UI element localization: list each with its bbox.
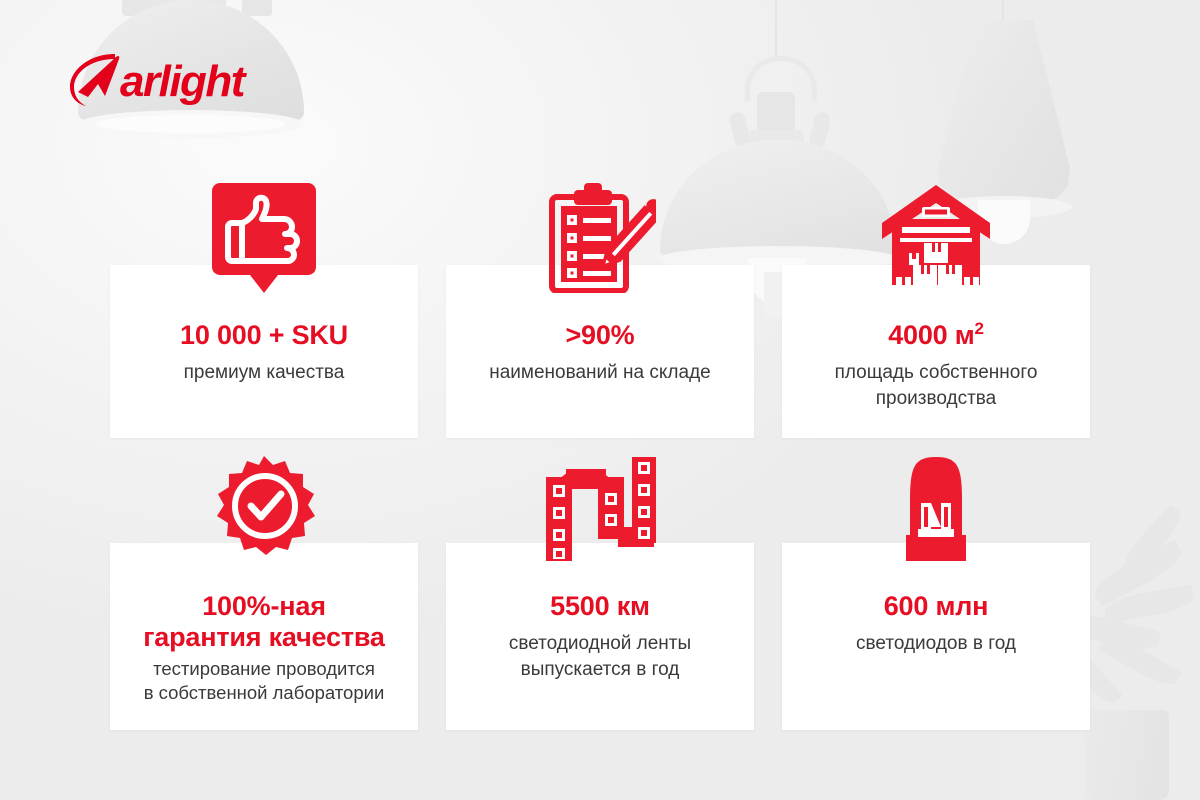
plant-leaf [1117,504,1187,578]
stat-headline: 5500 км [550,591,650,622]
clipboard-checklist-pencil-icon [544,183,656,298]
pendant-lamp-industrial-collar [748,130,804,146]
pendant-lamp-dome-cap [152,0,226,22]
quality-badge-check-icon [209,455,319,570]
plant-leaf [1098,630,1182,691]
stats-row-2: 100%-ная гарантия качества тестирование … [110,543,1090,730]
led-strip-icon [540,455,660,566]
stat-headline: 10 000 + SKU [180,320,348,351]
brand-logo[interactable]: arlight [58,48,288,110]
pendant-lamp-dome-arm-right [242,0,272,16]
stat-subline-line: выпускается в год [521,659,680,680]
pendant-lamp-industrial-shade [660,140,896,258]
stats-grid: 10 000 + SKU премиум качества [110,265,1090,730]
stat-headline-superscript: 2 [975,319,984,338]
stat-subline: светодиодов в год [856,631,1016,657]
warehouse-boxes-icon [880,183,992,292]
stat-subline-line: светодиодной ленты [509,633,691,654]
pendant-lamp-industrial-ear-left [728,111,752,150]
logo-swoosh-icon [70,54,119,106]
stat-subline-line: тестирование проводится [153,658,375,679]
stat-headline: >90% [565,320,634,351]
infographic-stage: arlight 10 000 + SKU премиу [0,0,1200,800]
stat-subline-line: в собственной лаборатории [144,682,385,703]
stat-headline: 600 млн [884,591,989,622]
stat-card-leds[interactable]: 600 млн светодиодов в год [782,543,1090,730]
stat-headline-line: гарантия качества [143,622,384,652]
stat-headline-line: 100%-ная [202,591,326,621]
stat-card-sku[interactable]: 10 000 + SKU премиум качества [110,265,418,438]
pendant-lamp-industrial-ear-right [808,111,832,150]
stat-card-warranty[interactable]: 100%-ная гарантия качества тестирование … [110,543,418,730]
pendant-lamp-dome-arm-left [122,0,152,16]
pendant-lamp-industrial-neck [757,92,795,136]
pendant-lamp-dome-inner [96,115,286,133]
pendant-lamp-industrial-hook [745,56,817,101]
stat-card-stock[interactable]: >90% наименований на складе [446,265,754,438]
stat-subline: светодиодной ленты выпускается в год [509,631,691,683]
svg-text:arlight: arlight [120,57,248,106]
plant-leaf [1090,539,1187,607]
pendant-lamp-dome-rim [78,110,304,138]
plant-leaf [1103,584,1196,623]
stat-subline-line: производства [876,388,997,409]
logo-wordmark: arlight [120,57,248,106]
stat-headline: 100%-ная гарантия качества [143,591,384,653]
pendant-lamp-cone-cord [1002,0,1004,22]
pendant-lamp-dome-cord [187,0,190,15]
stat-card-tape[interactable]: 5500 км светодиодной ленты выпускается в… [446,543,754,730]
stat-subline: премиум качества [184,360,345,386]
stats-row-1: 10 000 + SKU премиум качества [110,265,1090,438]
stat-card-area[interactable]: 4000 м2 площадь собственного производств… [782,265,1090,438]
stat-subline: наименований на складе [489,360,710,386]
stat-subline: площадь собственного производства [835,360,1038,412]
thumbs-up-icon [212,183,316,300]
stat-subline-line: площадь собственного [835,362,1038,383]
plant-pot [1085,710,1169,800]
stat-headline-value: 4000 м [888,320,974,350]
stat-headline: 4000 м2 [888,320,984,351]
stat-subline: тестирование проводится в собственной ла… [144,657,385,705]
plant-pot-lip [1080,706,1174,720]
pendant-lamp-industrial-cord [775,0,777,58]
led-lamp-icon [888,455,984,568]
plant-pot-secondary [1000,742,1080,800]
pendant-lamp-cone-shade [938,20,1070,210]
